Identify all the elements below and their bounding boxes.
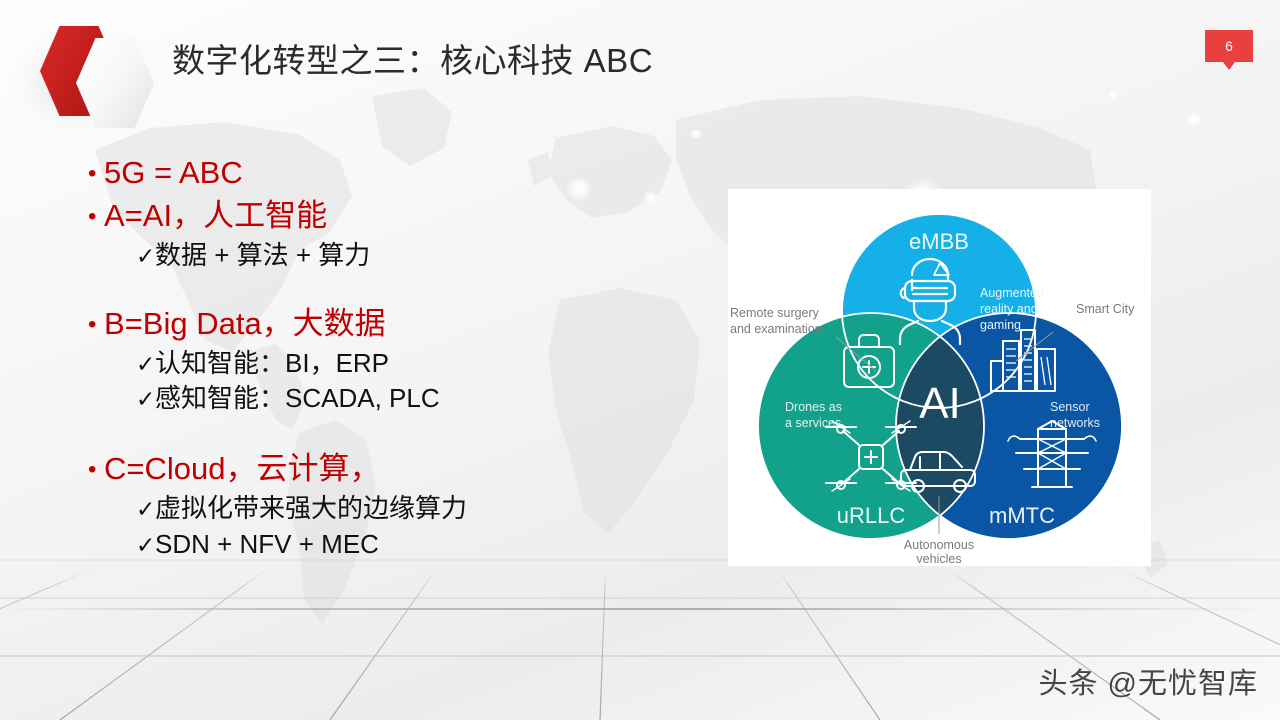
check-icon: ✓ <box>136 384 155 415</box>
venn-label-urllc: uRLLC <box>837 503 906 528</box>
bullet-level1-text: B=Big Data，大数据 <box>104 306 386 341</box>
sparkle-dot <box>1108 90 1118 100</box>
spacer <box>88 273 698 303</box>
check-icon: ✓ <box>136 241 155 272</box>
bullet-content: •5G = ABC •A=AI，人工智能 ✓数据 + 算法 + 算力 •B=Bi… <box>88 152 698 562</box>
venn-callout-smart-city: Smart City <box>1076 302 1135 316</box>
svg-text:vehicles: vehicles <box>916 552 961 566</box>
venn-label-mmtc: mMTC <box>989 503 1055 528</box>
bullet-level2-text: 虚拟化带来强大的边缘算力 <box>155 493 467 523</box>
svg-text:Sensor: Sensor <box>1050 400 1090 414</box>
spacer <box>88 416 698 448</box>
brand-logo <box>18 12 168 132</box>
bullet-level1-text: A=AI，人工智能 <box>104 198 327 233</box>
bullet-level1: •A=AI，人工智能 <box>88 195 698 238</box>
bullet-level1: •B=Big Data，大数据 <box>88 303 698 346</box>
bullet-block-2: •B=Big Data，大数据 ✓认知智能：BI，ERP ✓感知智能：SCADA… <box>88 303 698 416</box>
bullet-level1-text: 5G = ABC <box>104 155 243 190</box>
bullet-level2-text: 感知智能：SCADA, PLC <box>155 383 440 413</box>
bullet-marker-icon: • <box>88 308 104 341</box>
bullet-level2: ✓数据 + 算法 + 算力 <box>88 238 698 273</box>
check-icon: ✓ <box>136 494 155 525</box>
bullet-level2-text: SDN + NFV + MEC <box>155 529 379 559</box>
bullet-block-1: •A=AI，人工智能 ✓数据 + 算法 + 算力 <box>88 195 698 273</box>
svg-text:Drones as: Drones as <box>785 400 842 414</box>
page-number-badge: 6 <box>1205 30 1253 62</box>
bullet-marker-icon: • <box>88 453 104 486</box>
bullet-level2: ✓感知智能：SCADA, PLC <box>88 381 698 416</box>
check-icon: ✓ <box>136 530 155 561</box>
bullet-level2: ✓SDN + NFV + MEC <box>88 527 698 562</box>
sparkle-dot <box>1186 112 1202 128</box>
bullet-marker-icon: • <box>88 200 104 233</box>
bullet-marker-icon: • <box>88 157 104 190</box>
page-number-text: 6 <box>1225 38 1233 54</box>
bullet-level1: •C=Cloud，云计算， <box>88 448 698 491</box>
bullet-level2: ✓认知智能：BI，ERP <box>88 346 698 381</box>
venn-callout-autonomous-vehicles: Autonomous vehicles <box>904 538 974 566</box>
source-watermark: 头条 @无忧智库 <box>1039 660 1259 702</box>
svg-text:reality and: reality and <box>980 302 1038 316</box>
venn-diagram: eMBB uRLLC mMTC AI Augmented reality and… <box>728 189 1151 566</box>
horizon-glow <box>0 608 1280 610</box>
venn-center-label: AI <box>919 379 961 428</box>
bullet-level2-text: 数据 + 算法 + 算力 <box>155 240 370 270</box>
svg-text:Autonomous: Autonomous <box>904 538 974 552</box>
check-icon: ✓ <box>136 349 155 380</box>
sparkle-dot <box>690 128 702 140</box>
venn-callout-remote-surgery: Remote surgery and examination <box>730 306 822 336</box>
venn-diagram-panel: eMBB uRLLC mMTC AI Augmented reality and… <box>728 189 1151 566</box>
bullet-block-0: •5G = ABC <box>88 152 698 195</box>
svg-text:Augmented: Augmented <box>980 286 1044 300</box>
bullet-level1: •5G = ABC <box>88 152 698 195</box>
svg-text:gaming: gaming <box>980 318 1021 332</box>
svg-text:Remote surgery: Remote surgery <box>730 306 820 320</box>
svg-text:Smart City: Smart City <box>1076 302 1135 316</box>
bullet-level1-text: C=Cloud，云计算， <box>104 451 381 486</box>
page-title: 数字化转型之三：核心科技 ABC <box>172 34 653 82</box>
svg-text:and examination: and examination <box>730 322 822 336</box>
venn-label-embb: eMBB <box>909 229 969 254</box>
bullet-level2-text: 认知智能：BI，ERP <box>155 348 389 378</box>
bullet-block-3: •C=Cloud，云计算， ✓虚拟化带来强大的边缘算力 ✓SDN + NFV +… <box>88 448 698 561</box>
slide-canvas: 数字化转型之三：核心科技 ABC 6 •5G = ABC •A=AI，人工智能 … <box>0 0 1280 720</box>
bullet-level2: ✓虚拟化带来强大的边缘算力 <box>88 491 698 526</box>
